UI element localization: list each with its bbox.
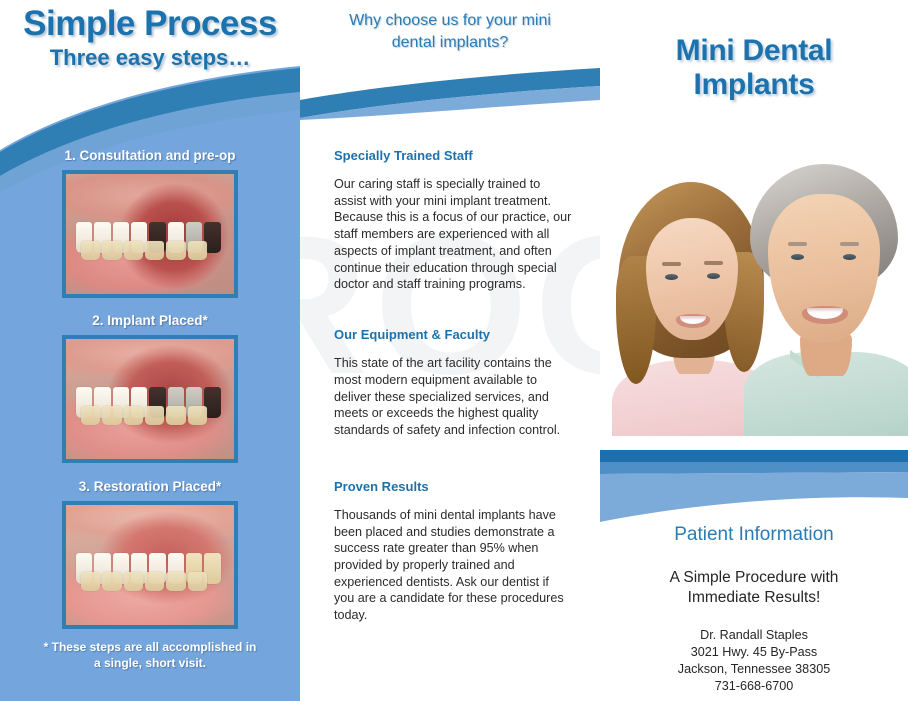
intraoral-photo-consultation — [62, 170, 238, 298]
left-panel: Simple Process Three easy steps… 1. Cons… — [0, 0, 300, 701]
step-caption-2: 2. Implant Placed* — [0, 313, 300, 328]
brochure-title-line-1: Mini Dental — [600, 34, 908, 68]
phone-number[interactable]: 731-668-6700 — [600, 678, 908, 695]
section-heading-1: Specially Trained Staff — [334, 148, 572, 163]
patient-tagline: A Simple Procedure with Immediate Result… — [600, 568, 908, 609]
section-heading-2: Our Equipment & Faculty — [334, 327, 572, 342]
smiling-mature-couple-photo — [600, 140, 908, 460]
step-item-1: 1. Consultation and pre-op — [0, 148, 300, 303]
section-heading-3: Proven Results — [334, 479, 572, 494]
section-proven-results: Proven Results Thousands of mini dental … — [334, 479, 572, 624]
brochure-title: Mini Dental Implants — [600, 34, 908, 101]
middle-header: Why choose us for your mini dental impla… — [300, 10, 600, 53]
right-swoosh-graphic — [600, 436, 908, 536]
brochure-title-line-2: Implants — [600, 68, 908, 102]
brochure-page: PROOF Simple Process Three easy steps… 1… — [0, 0, 908, 701]
practice-address: Dr. Randall Staples 3021 Hwy. 45 By-Pass… — [600, 627, 908, 695]
middle-header-line-2: dental implants? — [300, 32, 600, 54]
patient-tagline-line-2: Immediate Results! — [600, 588, 908, 608]
middle-header-line-1: Why choose us for your mini — [300, 10, 600, 32]
page-title: Simple Process — [0, 6, 300, 43]
middle-content: Specially Trained Staff Our caring staff… — [334, 148, 572, 624]
intraoral-photo-implant-placed — [62, 335, 238, 463]
doctor-name: Dr. Randall Staples — [600, 627, 908, 644]
footnote-line-1: * These steps are all accomplished in — [0, 639, 300, 655]
middle-panel: Why choose us for your mini dental impla… — [300, 0, 600, 701]
section-body-2: This state of the art facility contains … — [334, 355, 572, 439]
patient-info-title: Patient Information — [600, 524, 908, 546]
section-specially-trained-staff: Specially Trained Staff Our caring staff… — [334, 148, 572, 293]
street-address: 3021 Hwy. 45 By-Pass — [600, 644, 908, 661]
section-our-equipment-faculty: Our Equipment & Faculty This state of th… — [334, 327, 572, 439]
intraoral-photo-restoration-placed — [62, 501, 238, 629]
section-body-3: Thousands of mini dental implants have b… — [334, 507, 572, 624]
step-caption-1: 1. Consultation and pre-op — [0, 148, 300, 163]
section-body-1: Our caring staff is specially trained to… — [334, 176, 572, 293]
footnote-line-2: a single, short visit. — [0, 655, 300, 671]
step-caption-3: 3. Restoration Placed* — [0, 479, 300, 494]
right-panel: Mini Dental Implants — [600, 0, 908, 701]
left-title-block: Simple Process Three easy steps… — [0, 6, 300, 71]
middle-swoosh-graphic — [300, 60, 600, 120]
step-item-3: 3. Restoration Placed* — [0, 479, 300, 634]
page-subtitle: Three easy steps… — [0, 45, 300, 71]
left-footnote: * These steps are all accomplished in a … — [0, 639, 300, 671]
patient-tagline-line-1: A Simple Procedure with — [600, 568, 908, 588]
man-figure — [738, 164, 908, 460]
patient-information-block: Patient Information A Simple Procedure w… — [600, 524, 908, 694]
step-item-2: 2. Implant Placed* — [0, 313, 300, 468]
city-state-zip: Jackson, Tennessee 38305 — [600, 661, 908, 678]
